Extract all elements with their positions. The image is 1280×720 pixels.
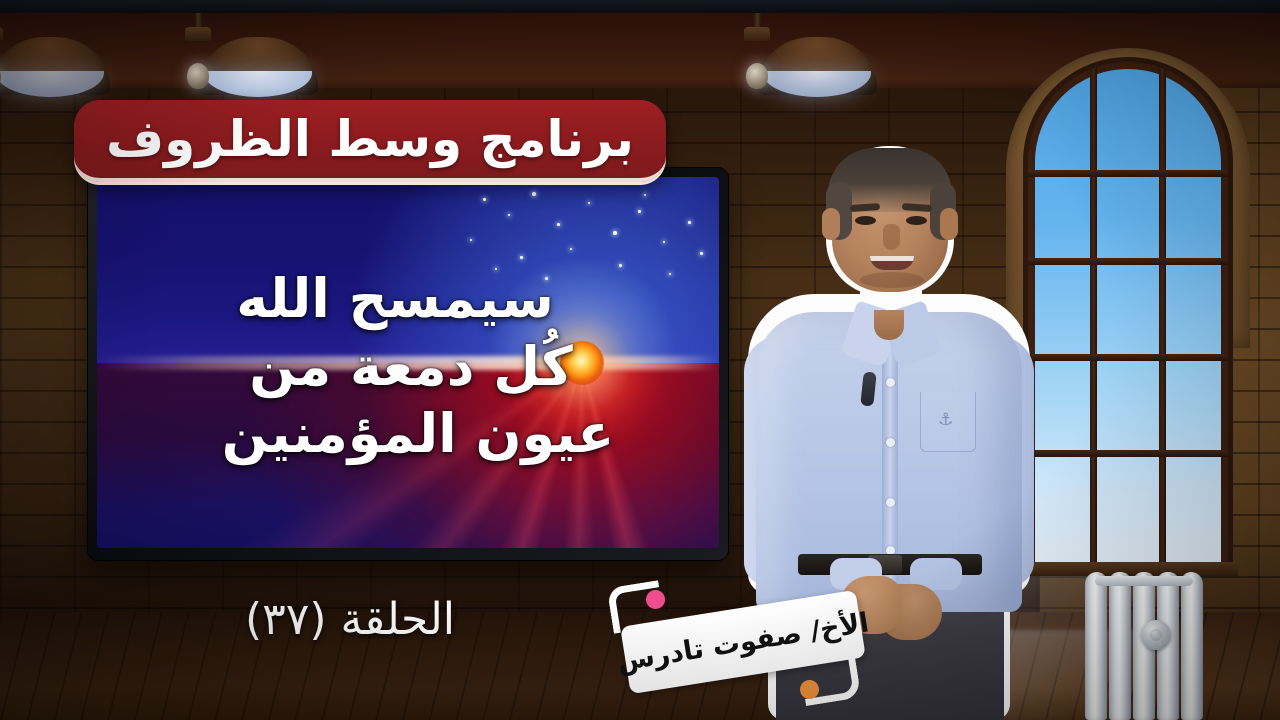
lamp-cap	[744, 27, 770, 41]
window-sky	[1035, 69, 1221, 563]
radiator-fin	[1181, 572, 1203, 720]
window-mullion-horizontal	[1028, 354, 1228, 361]
presenter-nose	[883, 224, 900, 250]
program-title-text: برنامج وسط الظروف	[106, 110, 634, 168]
presenter-chin-shadow	[860, 272, 924, 288]
verse-text-block: سيمسح الله كُل دمعة من عيون المؤمنين	[97, 177, 719, 548]
arched-window-icon	[1028, 62, 1228, 570]
radiator-icon	[1085, 572, 1203, 720]
window-mullion-horizontal	[1028, 258, 1228, 265]
window-mullion-horizontal	[1028, 170, 1228, 177]
presenter-neck	[874, 310, 904, 340]
lamp-bulb	[187, 63, 209, 89]
decorative-dot-pink	[646, 590, 665, 609]
presenter-shirt-button	[886, 498, 895, 507]
presenter-shirt-button	[886, 438, 895, 447]
presenter-shirt-button	[886, 378, 895, 387]
radiator-fin	[1085, 572, 1107, 720]
presenter-ear-right	[940, 208, 958, 240]
episode-label: الحلقة (٣٧)	[190, 594, 510, 645]
screen-surface: سيمسح الله كُل دمعة من عيون المؤمنين	[97, 177, 719, 548]
presenter-ear-left	[822, 208, 840, 240]
lamp-bulb	[746, 63, 768, 89]
lamp-cap	[185, 27, 211, 41]
lamp-cap	[0, 27, 3, 41]
speaker-name-badge: الأخ/ صفوت تادرس	[606, 582, 882, 710]
radiator-fin	[1109, 572, 1131, 720]
presenter-eye-left	[855, 216, 876, 225]
verse-line-2: كُل دمعة من	[249, 336, 573, 398]
window-mullion-vertical	[1090, 62, 1097, 570]
anchor-logo-icon: ⚓	[938, 410, 956, 432]
verse-line-1: سيمسح الله	[236, 268, 554, 330]
radiator-pipe	[1095, 576, 1193, 586]
window-mullion-horizontal	[1028, 450, 1228, 457]
verse-line-3: عيون المؤمنين	[222, 403, 615, 465]
video-frame: سيمسح الله كُل دمعة من عيون المؤمنين برن…	[0, 0, 1280, 720]
display-screen: سيمسح الله كُل دمعة من عيون المؤمنين	[88, 168, 728, 560]
radiator-body	[1085, 572, 1203, 720]
radiator-valve-knob	[1141, 620, 1171, 650]
program-title-banner: برنامج وسط الظروف	[74, 100, 666, 182]
window-mullion-vertical	[1159, 62, 1166, 570]
window-frame	[1028, 62, 1228, 570]
ceiling-strip	[0, 0, 1280, 13]
decorative-dot-orange	[800, 680, 819, 699]
presenter-eye-right	[906, 216, 927, 225]
